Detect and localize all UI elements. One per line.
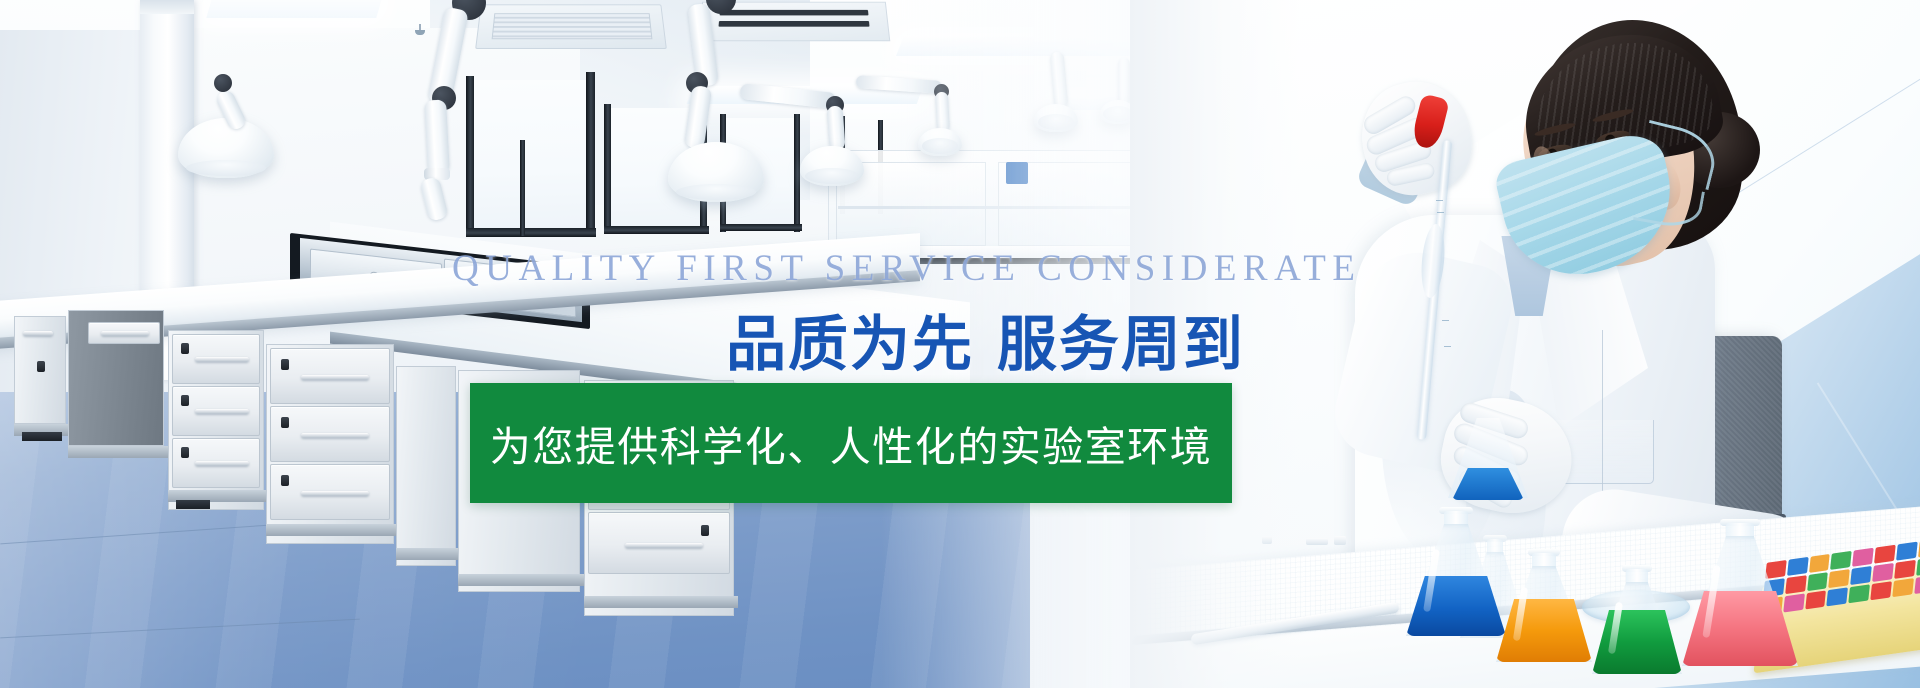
banner-subheadline-text: 为您提供科学化、人性化的实验室环境 [490,413,1213,473]
laboratory-hero-banner: QUALITY FIRST SERVICE CONSIDERATE 品质为先 服… [0,0,1920,688]
banner-subheadline-bar: 为您提供科学化、人性化的实验室环境 [470,383,1232,503]
banner-headline: 品质为先 服务周到 [726,296,1245,383]
banner-text-overlay: QUALITY FIRST SERVICE CONSIDERATE 品质为先 服… [0,0,1920,688]
banner-eyebrow-english: QUALITY FIRST SERVICE CONSIDERATE [452,247,1361,290]
